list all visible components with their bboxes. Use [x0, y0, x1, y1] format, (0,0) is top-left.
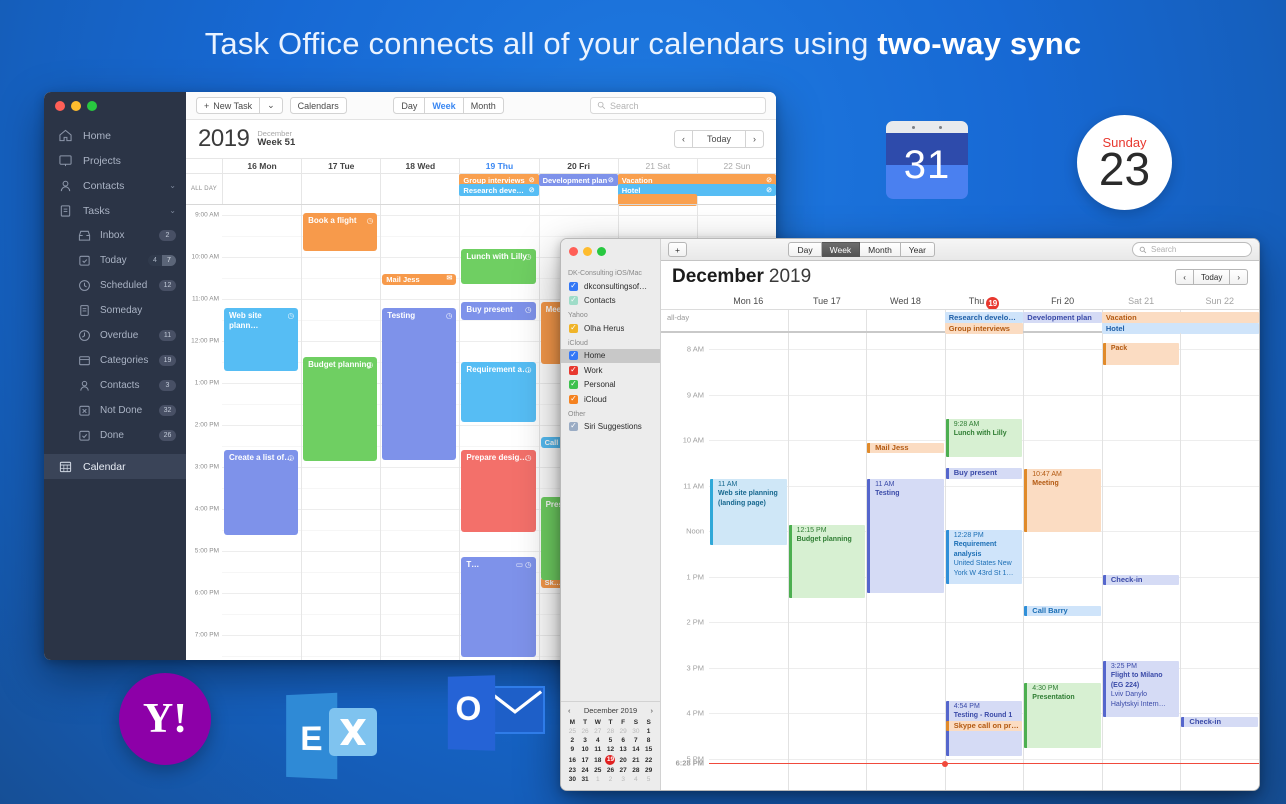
sidebar-task-label: Overdue [100, 330, 159, 341]
mini-day-cell[interactable]: 9 [566, 745, 579, 754]
calendar-day-header: Mon 16Tue 17Wed 18Thu19Fri 20Sat 21Sun 2… [661, 293, 1259, 309]
calendar-time-axis: 8 AM9 AM10 AM11 AMNoon1 PM2 PM3 PM4 PM5 … [661, 333, 709, 790]
calendar-item-home[interactable]: Home [561, 349, 660, 364]
view-day-button[interactable]: Day [393, 97, 425, 114]
calendar-checkbox[interactable] [569, 422, 578, 431]
search-icon [597, 101, 606, 110]
calendar-search-placeholder: Search [1151, 245, 1176, 254]
exchange-x-icon [336, 715, 370, 749]
calendar-all-day-label: all-day [661, 310, 709, 331]
calendar-day-header-thu[interactable]: Thu19 [945, 293, 1024, 309]
calendar-event-title: Flight to Milano (EG 224) [1111, 671, 1177, 690]
mini-day-cell[interactable]: 3 [579, 736, 592, 745]
mini-day-cell[interactable]: 25 [591, 766, 604, 775]
sidebar-item-calendar[interactable]: Calendar [44, 454, 186, 479]
event-status-icon: ◷ [367, 360, 374, 369]
new-task-group[interactable]: + New Task ⌄ [196, 97, 283, 114]
calendar-event-title: Testing - Round 1 [954, 711, 1020, 720]
status-badge: 11 [159, 330, 176, 341]
event-title: Mail Jess [386, 275, 419, 284]
calendar-hour-gridline [709, 622, 1259, 623]
event-status-icon: ◷ [288, 311, 295, 320]
calendar-event[interactable]: 3:25 PMFlight to Milano (EG 224)Lviv Dan… [1103, 661, 1180, 717]
status-badge: 12 [159, 280, 176, 291]
calendar-item-work[interactable]: Work [561, 363, 660, 378]
event-status-icon: ◷ [525, 453, 532, 462]
calendar-icon [58, 459, 73, 474]
close-button[interactable] [55, 101, 65, 111]
day-header-17-tue[interactable]: 17 Tue [301, 159, 380, 173]
contacts-icon [59, 179, 72, 192]
calendar-time-label: 8 AM [687, 345, 704, 354]
calendar-item-label: Olha Herus [584, 324, 624, 333]
calendar-event[interactable]: Lunch with Lilly◷ [461, 249, 535, 284]
mini-day-cell[interactable]: 3 [617, 775, 630, 784]
all-day-event[interactable]: Research deve…⊘ [459, 184, 538, 196]
calendar-day-label: Tue 17 [813, 296, 841, 306]
calendar-search-field[interactable]: Search [1132, 242, 1252, 257]
day-header-16-mon[interactable]: 16 Mon [222, 159, 301, 173]
chevron-down-icon[interactable]: ⌄ [169, 181, 176, 190]
time-label: 6:00 PM [195, 590, 219, 597]
calendar-all-day-event-title: Vacation [1106, 313, 1137, 322]
calendar-checkbox[interactable] [569, 296, 578, 305]
calendar-event[interactable]: 4:30 PMPresentation [1024, 683, 1101, 748]
calendar-all-day-columns[interactable]: Research develo…Group interviewsDevelopm… [709, 310, 1259, 331]
sidebar-item-projects[interactable]: Projects [44, 148, 186, 173]
calendar-day-header-sat-21[interactable]: Sat 21 [1102, 293, 1181, 309]
calendar-event[interactable]: Buy present [946, 468, 1023, 479]
mini-day-cell[interactable]: 15 [642, 745, 655, 754]
event-title: Buy present [466, 305, 512, 314]
mini-day-cell[interactable]: 16 [566, 754, 579, 766]
mini-day-cell[interactable]: 12 [604, 745, 617, 754]
yahoo-logo-text: Y! [143, 695, 187, 743]
calendar-view-switcher[interactable]: DayWeekMonthYear [788, 242, 935, 257]
mini-day-cell[interactable]: 26 [579, 727, 592, 736]
add-event-button[interactable]: + [668, 242, 687, 257]
calendar-day-header-wed-18[interactable]: Wed 18 [866, 293, 945, 309]
time-axis: 9:00 AM10:00 AM11:00 AM12:00 PM1:00 PM2:… [186, 205, 222, 660]
calendar-event-title: Call Barry [1032, 606, 1067, 616]
view-week-button[interactable]: Week [425, 97, 463, 114]
home-icon [59, 129, 72, 142]
calendar-item-dkconsultingsof[interactable]: dkconsultingsof… [561, 279, 660, 294]
calendar-day-label: Fri 20 [1051, 296, 1074, 306]
calendar-traffic-lights[interactable] [561, 239, 660, 261]
current-time-line [709, 763, 1259, 764]
calendar-event[interactable]: 10:47 AMMeeting [1024, 469, 1101, 532]
calendar-event[interactable]: Requirement a…◷ [461, 362, 535, 422]
mini-day-cell[interactable]: 29 [617, 727, 630, 736]
mini-day-cell[interactable]: 5 [604, 736, 617, 745]
tasks-icon [59, 204, 72, 217]
mini-day-cell[interactable]: 1 [642, 727, 655, 736]
page-headline: Task Office connects all of your calenda… [0, 26, 1286, 62]
calendar-day-header-tue-17[interactable]: Tue 17 [788, 293, 867, 309]
day-header-row: 16 Mon17 Tue18 Wed19 Thu20 Fri21 Sat22 S… [186, 158, 776, 173]
calendar-all-day-event[interactable]: Development plan [1023, 312, 1102, 323]
event-title: Book a flight [308, 216, 356, 225]
mini-day-cell[interactable]: 25 [566, 727, 579, 736]
note-icon [78, 304, 91, 317]
mini-weekday: T [604, 718, 617, 727]
time-label: 9:00 AM [195, 212, 219, 219]
mini-calendar-header: ‹ December 2019 › [566, 706, 655, 718]
time-label: 4:00 PM [195, 506, 219, 513]
event-title: Create a list of… [229, 453, 292, 462]
calendar-event-title: Testing [875, 489, 941, 498]
macos-calendar-window[interactable]: DK-Consulting iOS/Macdkconsultingsof…Con… [560, 238, 1260, 791]
calendar-checkbox[interactable] [569, 395, 578, 404]
calendar-event[interactable]: Check-in [1103, 575, 1180, 585]
calendar-all-day-event-title: Hotel [1106, 324, 1125, 333]
status-badge: 2 [159, 230, 176, 241]
calendar-source-list[interactable]: DK-Consulting iOS/Macdkconsultingsof…Con… [561, 261, 660, 701]
headline-emphasis: two-way sync [877, 26, 1081, 61]
person-icon [78, 378, 91, 393]
event-title: Web site plann… [229, 311, 262, 330]
sidebar-task-label: Categories [100, 355, 159, 366]
calendar-item-contacts[interactable]: Contacts [561, 294, 660, 309]
event-title: Requirement a… [466, 365, 530, 374]
calendar-today-button[interactable]: Today [1194, 269, 1230, 285]
calendar-event[interactable]: Mail Jess [867, 443, 944, 453]
mini-day-cell[interactable]: 13 [617, 745, 630, 754]
inbox-icon [78, 228, 91, 243]
calendar-time-label: 4 PM [686, 709, 704, 718]
mini-day-cell[interactable]: 24 [579, 766, 592, 775]
mini-calendar-weekdays: MTWTFSS [566, 718, 655, 727]
all-day-col[interactable] [222, 174, 301, 204]
mini-day-cell[interactable]: 23 [566, 766, 579, 775]
exchange-badge [329, 708, 377, 756]
new-task-button[interactable]: + New Task [196, 97, 260, 114]
sidebar-task-item-contacts[interactable]: Contacts3 [44, 373, 186, 398]
projects-icon [58, 153, 73, 168]
mini-weekday: W [591, 718, 604, 727]
done-icon [78, 429, 91, 442]
outlook-logo: O [447, 676, 547, 754]
minimize-button[interactable] [583, 247, 592, 256]
calendar-view-day-button[interactable]: Day [788, 242, 821, 257]
sidebar-task-item-someday[interactable]: Someday [44, 298, 186, 323]
calendar-toolbar: + DayWeekMonthYear Search [661, 239, 1259, 261]
day-header-18-wed[interactable]: 18 Wed [380, 159, 459, 173]
sidebar-task-label: Contacts [100, 380, 159, 391]
sidebar-task-label: Scheduled [100, 280, 159, 291]
calendar-checkbox[interactable] [569, 366, 578, 375]
calendar-event-time: 11 AM [875, 480, 941, 489]
all-day-col[interactable] [380, 174, 459, 204]
calendar-event[interactable]: Mail Jess✉ [382, 274, 456, 285]
calendar-time-label: 3 PM [686, 663, 704, 672]
sidebar-item-home[interactable]: Home [44, 123, 186, 148]
calendar-event-location: Lviv Danylo Halytskyi Intern… [1111, 690, 1177, 709]
current-time-dot [942, 761, 948, 767]
all-day-col[interactable] [301, 174, 380, 204]
day-header-20-fri[interactable]: 20 Fri [539, 159, 618, 173]
all-day-event-title: Development plan [543, 176, 608, 185]
calendar-all-day-event[interactable]: Research develo… [945, 312, 1024, 323]
yahoo-logo: Y! [119, 673, 211, 765]
mini-day-cell[interactable]: 31 [579, 775, 592, 784]
event-status-icon: ⊘ [766, 186, 772, 194]
calendar-view-month-button[interactable]: Month [860, 242, 901, 257]
all-day-row: ALL DAY Group interviews⊘Research deve…⊘… [186, 173, 776, 204]
calendar-event-title: Pack [1111, 344, 1177, 353]
sidebar-task-item-overdue[interactable]: Overdue11 [44, 323, 186, 348]
mini-week-row: 23242526272829 [566, 766, 655, 775]
calendar-event[interactable]: Buy present◷ [461, 302, 535, 320]
mini-day-cell[interactable]: 14 [630, 745, 643, 754]
categories-icon [78, 353, 91, 368]
calendars-button[interactable]: Calendars [290, 97, 347, 114]
mini-day-cell[interactable]: 19 [604, 754, 617, 766]
calendar-day-header-mon-16[interactable]: Mon 16 [709, 293, 788, 309]
calendar-item-personal[interactable]: Personal [561, 378, 660, 393]
calendar-event[interactable]: 11 AMWeb site planning (landing page) [710, 479, 787, 545]
mini-day-cell[interactable]: 27 [617, 766, 630, 775]
day-gridline [459, 205, 460, 660]
date-nav-group[interactable]: ‹ Today › [674, 130, 764, 148]
day-header-21-sat[interactable]: 21 Sat [618, 159, 697, 173]
mini-day-cell[interactable]: 4 [630, 775, 643, 784]
google-calendar-icon: 31 [886, 121, 968, 199]
calendar-view-year-button[interactable]: Year [901, 242, 935, 257]
event-status-icon: ◷ [446, 311, 453, 320]
all-day-columns: Group interviews⊘Research deve…⊘Developm… [222, 174, 776, 204]
mini-day-cell[interactable]: 28 [604, 727, 617, 736]
calendar-checkbox[interactable] [569, 282, 578, 291]
mini-weekday: F [617, 718, 630, 727]
day-header-22-sun[interactable]: 22 Sun [697, 159, 776, 173]
sidebar-task-label: Today [100, 255, 148, 266]
calendar-view-week-button[interactable]: Week [822, 242, 861, 257]
mini-day-cell[interactable]: 26 [604, 766, 617, 775]
sidebar-task-item-done[interactable]: Done26 [44, 423, 186, 448]
calendar-day-label: Mon 16 [733, 296, 763, 306]
calendar-all-day-event-title: Group interviews [949, 324, 1010, 333]
year-label: 2019 [198, 125, 249, 153]
calendar-event[interactable]: 11 AMTesting [867, 479, 944, 593]
calendar-event-title: Skype call on pr… [954, 721, 1019, 731]
view-month-button[interactable]: Month [464, 97, 504, 114]
mini-day-cell[interactable]: 21 [630, 754, 643, 766]
mini-day-cell[interactable]: 2 [604, 775, 617, 784]
event-status-icon: ▭ ◷ [516, 560, 532, 569]
calendar-time-label: 2 PM [686, 618, 704, 627]
mini-day-cell[interactable]: 2 [566, 736, 579, 745]
day-gridline [380, 205, 381, 660]
calendar-event-time: 9:28 AM [954, 420, 1020, 429]
calendar-event[interactable]: T…▭ ◷ [461, 557, 535, 657]
sidebar-task-item-scheduled[interactable]: Scheduled12 [44, 273, 186, 298]
calendar-event-time: 12:15 PM [797, 526, 863, 535]
calendar-item-label: dkconsultingsof… [584, 282, 647, 291]
calendar-time-label: 9 AM [687, 390, 704, 399]
sidebar-task-item-inbox[interactable]: Inbox2 [44, 223, 186, 248]
time-label: 7:00 PM [195, 632, 219, 639]
calendar-time-label: 1 PM [686, 572, 704, 581]
event-title: T… [466, 560, 479, 569]
calendar-event[interactable]: Web site plann…◷ [224, 308, 298, 371]
calendar-event-title: Web site planning (landing page) [718, 489, 784, 508]
calendar-item-label: iCloud [584, 395, 607, 404]
new-task-dropdown-button[interactable]: ⌄ [260, 97, 283, 114]
calendar-year-label: 2019 [769, 266, 811, 288]
mini-calendar-table[interactable]: MTWTFSS 25262728293012345678910111213141… [566, 718, 655, 784]
status-badge: 47 [148, 255, 176, 266]
calendar-group-header: DK-Consulting iOS/Mac [561, 266, 660, 279]
calendar-event[interactable]: Create a list of…◷ [224, 450, 298, 535]
event-title: Testing [387, 311, 415, 320]
event-status-icon: ◷ [525, 305, 532, 314]
day-header-19-thu[interactable]: 19 Thu [459, 159, 538, 173]
calendar-next-button[interactable]: › [1230, 269, 1248, 285]
event-status-icon: ⊘ [529, 176, 535, 184]
projects-icon [59, 154, 72, 167]
mini-day-cell[interactable]: 17 [579, 754, 592, 766]
calendar-event[interactable]: Call Barry [1024, 606, 1101, 616]
calendar-event-title: Buy present [954, 468, 997, 478]
status-badge: 19 [159, 355, 176, 366]
mini-weekday: S [630, 718, 643, 727]
prev-period-button[interactable]: ‹ [674, 130, 693, 148]
mini-day-cell[interactable]: 8 [642, 736, 655, 745]
search-placeholder: Search [610, 101, 639, 111]
today-button[interactable]: Today [693, 130, 746, 148]
mini-day-cell[interactable]: 6 [617, 736, 630, 745]
notdone-icon [78, 403, 91, 418]
time-label: 2:00 PM [195, 422, 219, 429]
window-traffic-lights[interactable] [44, 92, 186, 111]
mini-day-cell[interactable]: 18 [591, 754, 604, 766]
mini-next-button[interactable]: › [651, 706, 654, 715]
mini-month-calendar[interactable]: ‹ December 2019 › MTWTFSS 25262728293012… [561, 701, 660, 790]
calendar-title-bar: December 2019 ‹ Today › [661, 261, 1259, 293]
calendar-checkbox[interactable] [569, 324, 578, 333]
task-office-sidebar: HomeProjectsContacts⌄Tasks⌄Inbox2Today47… [44, 92, 186, 660]
calendar-day-gridline [1102, 333, 1103, 790]
time-label: 10:00 AM [192, 254, 219, 261]
week-label-group: December Week 51 [257, 130, 295, 148]
view-switcher[interactable]: DayWeekMonth [393, 97, 503, 114]
mini-day-cell[interactable]: 27 [591, 727, 604, 736]
maximize-button[interactable] [597, 247, 606, 256]
mini-day-cell[interactable]: 7 [630, 736, 643, 745]
search-field[interactable]: Search [590, 97, 766, 114]
status-badge: 32 [159, 405, 176, 416]
calendar-prev-button[interactable]: ‹ [1175, 269, 1194, 285]
calendar-item-olha-herus[interactable]: Olha Herus [561, 321, 660, 336]
calendar-event[interactable]: Prepare desig…◷ [461, 450, 535, 532]
today-icon [78, 254, 91, 267]
mini-day-cell[interactable]: 10 [579, 745, 592, 754]
all-day-event[interactable]: Development plan⊘ [539, 174, 618, 186]
apple-calendar-day: 23 [1099, 148, 1150, 192]
mini-day-cell[interactable]: 28 [630, 766, 643, 775]
minimize-button[interactable] [71, 101, 81, 111]
calendar-item-icloud[interactable]: iCloud [561, 392, 660, 407]
calendar-checkbox[interactable] [569, 380, 578, 389]
calendar-event[interactable]: Budget planning◷ [303, 357, 377, 461]
sidebar-task-item-categories[interactable]: Categories19 [44, 348, 186, 373]
calendar-hour-gridline [709, 759, 1259, 760]
event-status-icon: ◷ [525, 252, 532, 261]
overdue-icon [78, 328, 91, 343]
calendar-event[interactable]: Check-in [1181, 717, 1258, 727]
calendar-day-header-fri-20[interactable]: Fri 20 [1023, 293, 1102, 309]
calendar-all-day-event[interactable]: Vacation [1102, 312, 1259, 323]
mini-day-cell[interactable]: 29 [642, 766, 655, 775]
calendar-event[interactable]: 9:28 AMLunch with Lilly [946, 419, 1023, 457]
sidebar-task-item-today[interactable]: Today47 [44, 248, 186, 273]
mini-week-row: 9101112131415 [566, 745, 655, 754]
headline-prefix: Task Office connects all of your calenda… [205, 26, 878, 61]
calendar-day-header-sun-22[interactable]: Sun 22 [1180, 293, 1259, 309]
mini-day-cell[interactable]: 30 [566, 775, 579, 784]
calendar-event-canvas[interactable]: Pack9:28 AMLunch with LillyMail JessBuy … [709, 333, 1259, 790]
calendar-hour-gridline [709, 395, 1259, 396]
envelope-icon [487, 688, 543, 732]
mini-day-cell[interactable]: 5 [642, 775, 655, 784]
calendar-item-label: Personal [584, 380, 616, 389]
mini-day-cell[interactable]: 22 [642, 754, 655, 766]
mini-day-cell[interactable]: 1 [591, 775, 604, 784]
all-day-label: ALL DAY [186, 174, 222, 204]
mini-day-cell[interactable]: 30 [630, 727, 643, 736]
calendar-checkbox[interactable] [569, 351, 578, 360]
mini-week-row: 2526272829301 [566, 727, 655, 736]
mini-weekday: S [642, 718, 655, 727]
status-badge: 3 [159, 380, 176, 391]
time-label: 11:00 AM [192, 296, 219, 303]
maximize-button[interactable] [87, 101, 97, 111]
calendar-week-grid[interactable]: 8 AM9 AM10 AM11 AMNoon1 PM2 PM3 PM4 PM5 … [661, 333, 1259, 790]
mini-week-row: 16171819202122 [566, 754, 655, 766]
calendar-event-title: Presentation [1032, 693, 1098, 702]
close-button[interactable] [569, 247, 578, 256]
mini-prev-button[interactable]: ‹ [568, 706, 571, 715]
event-status-icon: ⊘ [766, 176, 772, 184]
calendar-day-label: Sun 22 [1205, 296, 1234, 306]
calendar-event[interactable]: 12:28 PMRequirement analysisUnited State… [946, 530, 1023, 584]
calendar-event[interactable]: Testing◷ [382, 308, 456, 460]
next-period-button[interactable]: › [746, 130, 764, 148]
mini-day-cell[interactable]: 4 [591, 736, 604, 745]
sidebar-item-tasks[interactable]: Tasks⌄ [44, 198, 186, 223]
calendar-event[interactable]: Book a flight◷ [303, 213, 377, 251]
calendar-time-label: 11 AM [683, 481, 704, 490]
event-title: Budget planning [308, 360, 371, 369]
sidebar-task-label: Someday [100, 305, 176, 316]
calendar-event[interactable]: 12:15 PMBudget planning [789, 525, 866, 598]
event-status-icon: ⊘ [529, 186, 535, 194]
calendar-date-nav[interactable]: ‹ Today › [1175, 269, 1248, 285]
calendar-event[interactable]: Skype call on pr… [946, 721, 1023, 731]
sidebar-item-contacts[interactable]: Contacts⌄ [44, 173, 186, 198]
calendar-event[interactable]: Pack [1103, 343, 1180, 365]
chevron-down-icon[interactable]: ⌄ [169, 206, 176, 215]
mini-day-cell[interactable]: 20 [617, 754, 630, 766]
all-day-event-title: Research deve… [463, 186, 523, 195]
mini-day-cell[interactable]: 11 [591, 745, 604, 754]
calendar-item-label: Contacts [584, 296, 616, 305]
sidebar-task-item-not-done[interactable]: Not Done32 [44, 398, 186, 423]
calendar-event-title: Meeting [1032, 479, 1098, 488]
calendar-item-siri-suggestions[interactable]: Siri Suggestions [561, 420, 660, 435]
